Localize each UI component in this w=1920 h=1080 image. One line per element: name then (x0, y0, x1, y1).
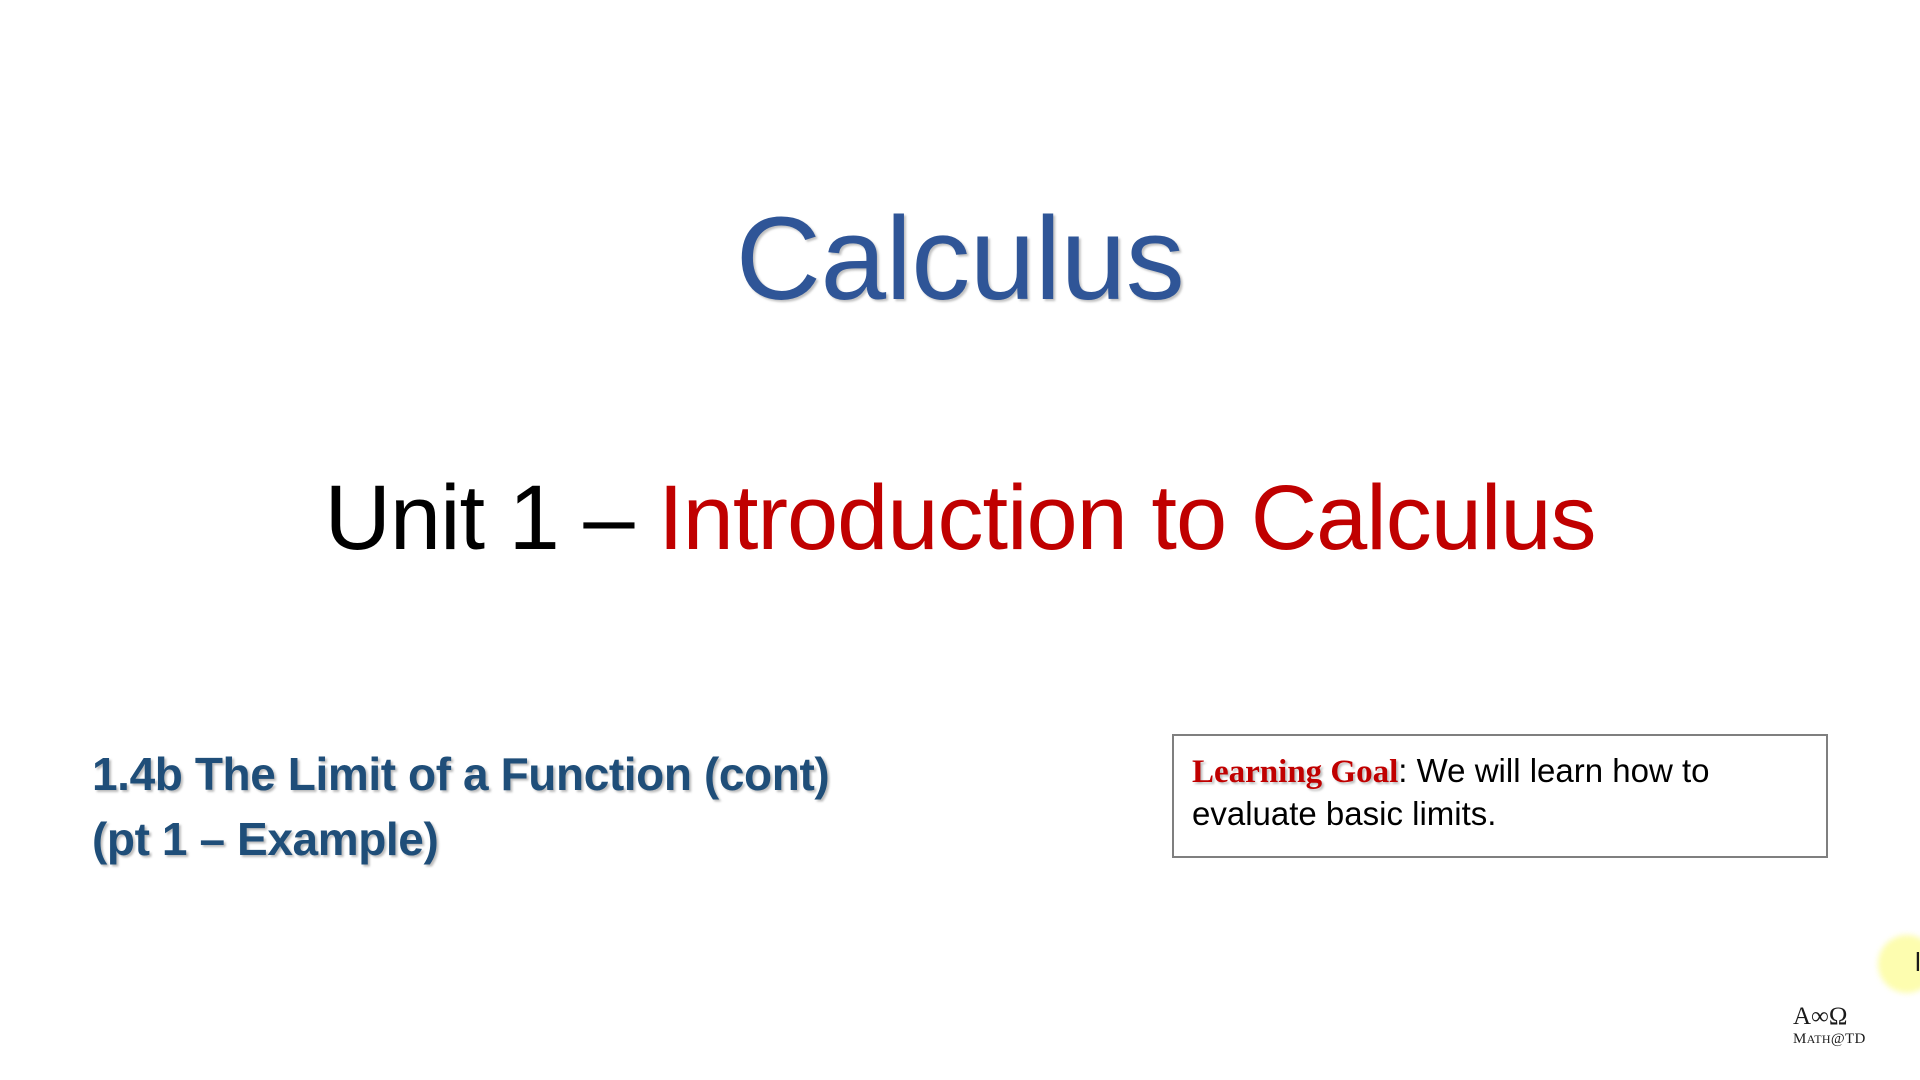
brand-name: MATH@TD (1793, 1032, 1893, 1047)
cursor-highlight-dot (1878, 935, 1920, 993)
learning-goal-text: Learning Goal: We will learn how to eval… (1192, 750, 1808, 835)
unit-subtitle-topic: Introduction to Calculus (658, 467, 1595, 569)
page-title: Calculus (0, 196, 1920, 323)
lesson-heading: 1.4b The Limit of a Function (cont) (pt … (92, 742, 1122, 873)
unit-subtitle: Unit 1 – Introduction to Calculus (0, 468, 1920, 569)
learning-goal-box: Learning Goal: We will learn how to eval… (1172, 734, 1828, 858)
brand-name-handle: @TD (1831, 1031, 1866, 1047)
lesson-heading-line-1: 1.4b The Limit of a Function (cont) (92, 742, 1122, 807)
brand-name-initial: M (1793, 1031, 1807, 1047)
learning-goal-separator: : (1398, 752, 1416, 789)
cursor-edge-glyph: l (1915, 949, 1920, 975)
learning-goal-label: Learning Goal (1192, 754, 1398, 790)
slide-canvas: Calculus Unit 1 – Introduction to Calcul… (0, 0, 1920, 1080)
brand-logo: A∞Ω MATH@TD (1793, 1004, 1893, 1047)
brand-name-smallcaps: ATH (1807, 1032, 1831, 1046)
brand-symbol: A∞Ω (1793, 1004, 1893, 1029)
lesson-heading-line-2: (pt 1 – Example) (92, 807, 1122, 872)
unit-subtitle-label: Unit 1 – (324, 467, 658, 569)
